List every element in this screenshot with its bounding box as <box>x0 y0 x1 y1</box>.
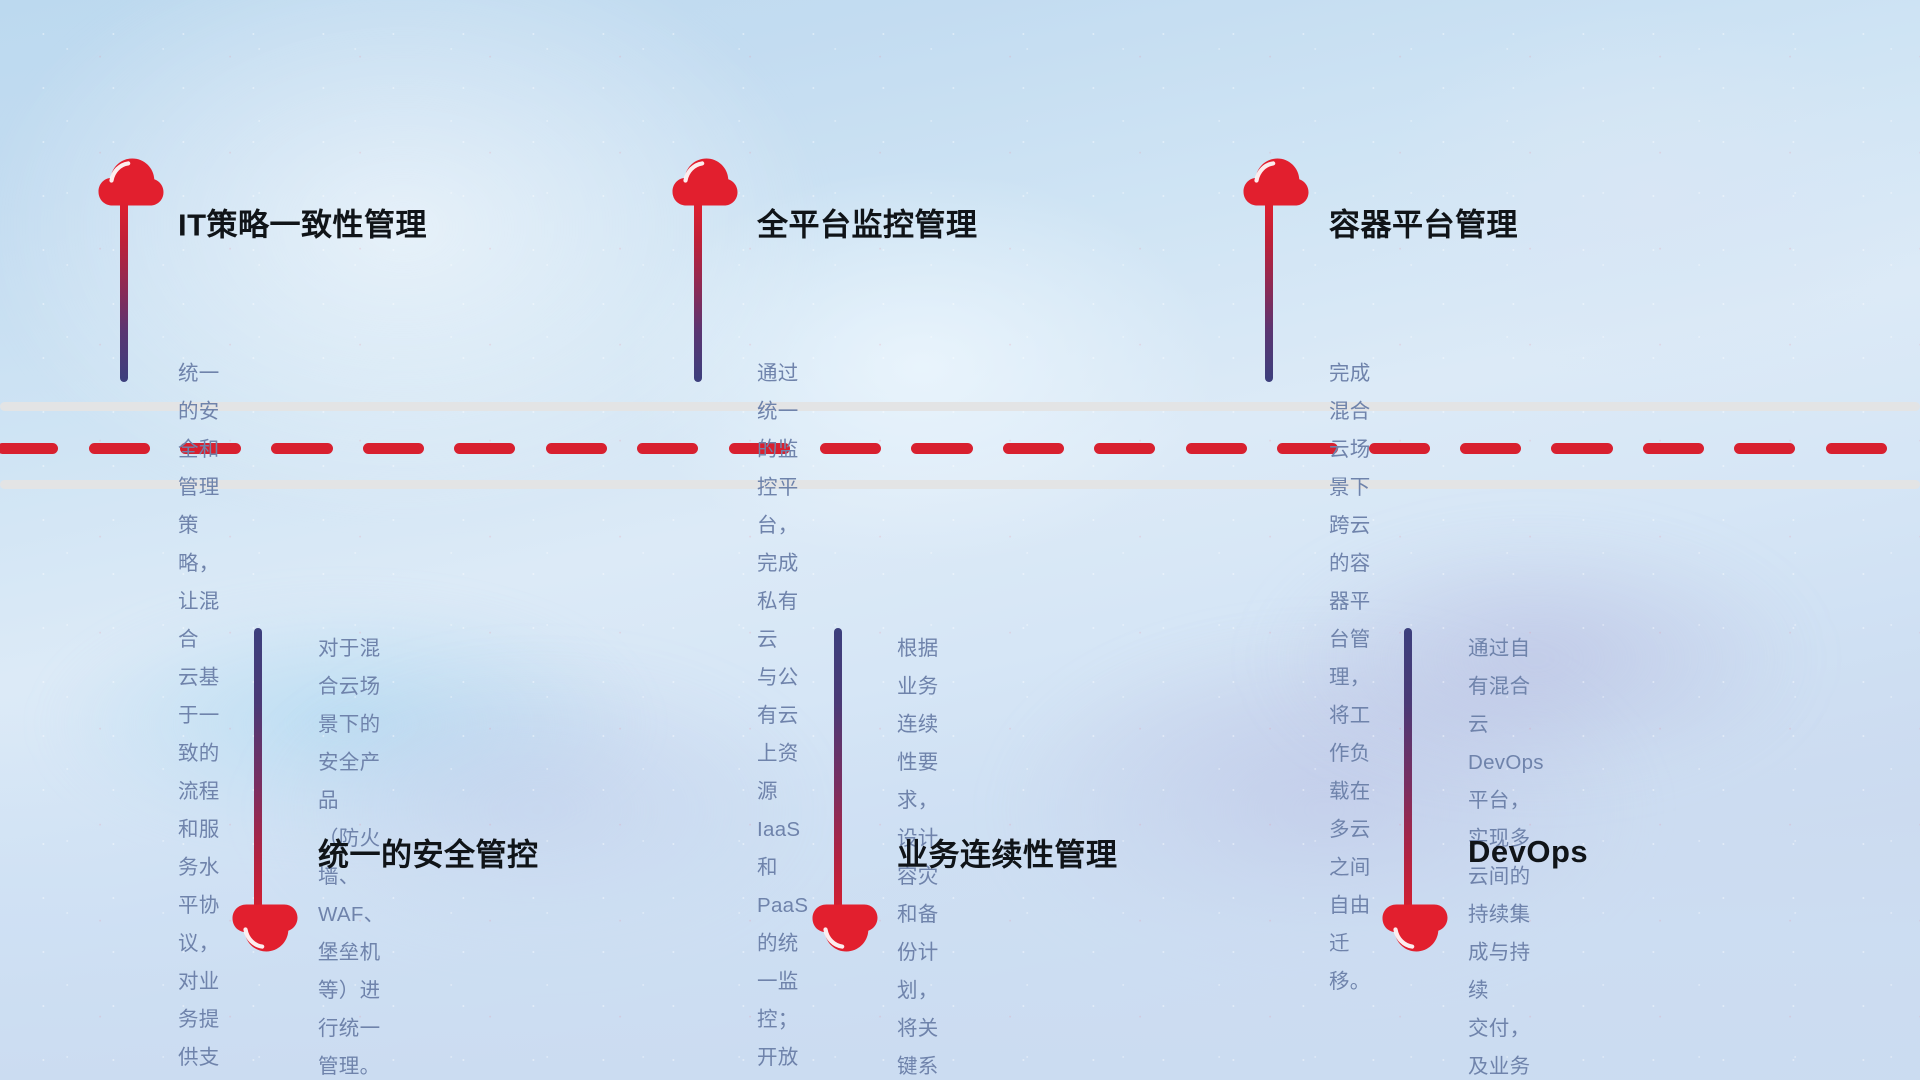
divider-rail-top <box>0 402 1920 411</box>
infographic-canvas: IT策略一致性管理 统一的安全和管理策略，让混合 云基于一致的流程和服务水平协 … <box>0 0 1920 1080</box>
divider-dash <box>1460 443 1521 454</box>
card-title: 业务连续性管理 <box>897 830 1118 875</box>
divider-dash <box>0 443 58 454</box>
connector-line <box>254 628 262 916</box>
divider-dash <box>271 443 332 454</box>
cloud-marker-icon <box>812 904 878 952</box>
divider-dash <box>1551 443 1612 454</box>
cloud-marker-icon <box>1382 904 1448 952</box>
connector-line <box>1404 628 1412 916</box>
divider-dash <box>1186 443 1247 454</box>
divider-dash <box>1734 443 1795 454</box>
card-title: 全平台监控管理 <box>757 200 978 245</box>
divider-rail-bottom <box>0 480 1920 489</box>
connector-line <box>694 200 702 382</box>
highway-divider <box>0 398 1920 490</box>
divider-dash <box>454 443 515 454</box>
divider-dash <box>637 443 698 454</box>
divider-dash <box>1003 443 1064 454</box>
card-title: IT策略一致性管理 <box>178 200 427 245</box>
card-title: 容器平台管理 <box>1329 200 1518 245</box>
cloud-marker-icon <box>232 904 298 952</box>
divider-dash <box>1094 443 1155 454</box>
connector-line <box>834 628 842 916</box>
divider-dash <box>363 443 424 454</box>
divider-dash <box>820 443 881 454</box>
divider-dash <box>1643 443 1704 454</box>
card-title: 统一的安全管控 <box>318 830 539 875</box>
card-body: 通过统一的监控平台，完成私有云 与公有云上资源IaaS和PaaS的统 一监控；开… <box>757 355 808 1080</box>
cloud-marker-icon <box>1243 158 1309 206</box>
card-title: DevOps <box>1468 834 1588 870</box>
divider-dash <box>1826 443 1887 454</box>
card-body: 完成混合云场景下跨云的容器平 台管理，将工作负载在多云之间 自由迁移。 <box>1329 355 1371 1001</box>
divider-dash <box>1369 443 1430 454</box>
cloud-marker-icon <box>98 158 164 206</box>
cloud-marker-icon <box>672 158 738 206</box>
divider-dash <box>89 443 150 454</box>
connector-line <box>120 200 128 382</box>
card-body: 统一的安全和管理策略，让混合 云基于一致的流程和服务水平协 议，对业务提供支持。 <box>178 355 220 1080</box>
connector-line <box>1265 200 1273 382</box>
divider-dash <box>911 443 972 454</box>
divider-dash <box>546 443 607 454</box>
